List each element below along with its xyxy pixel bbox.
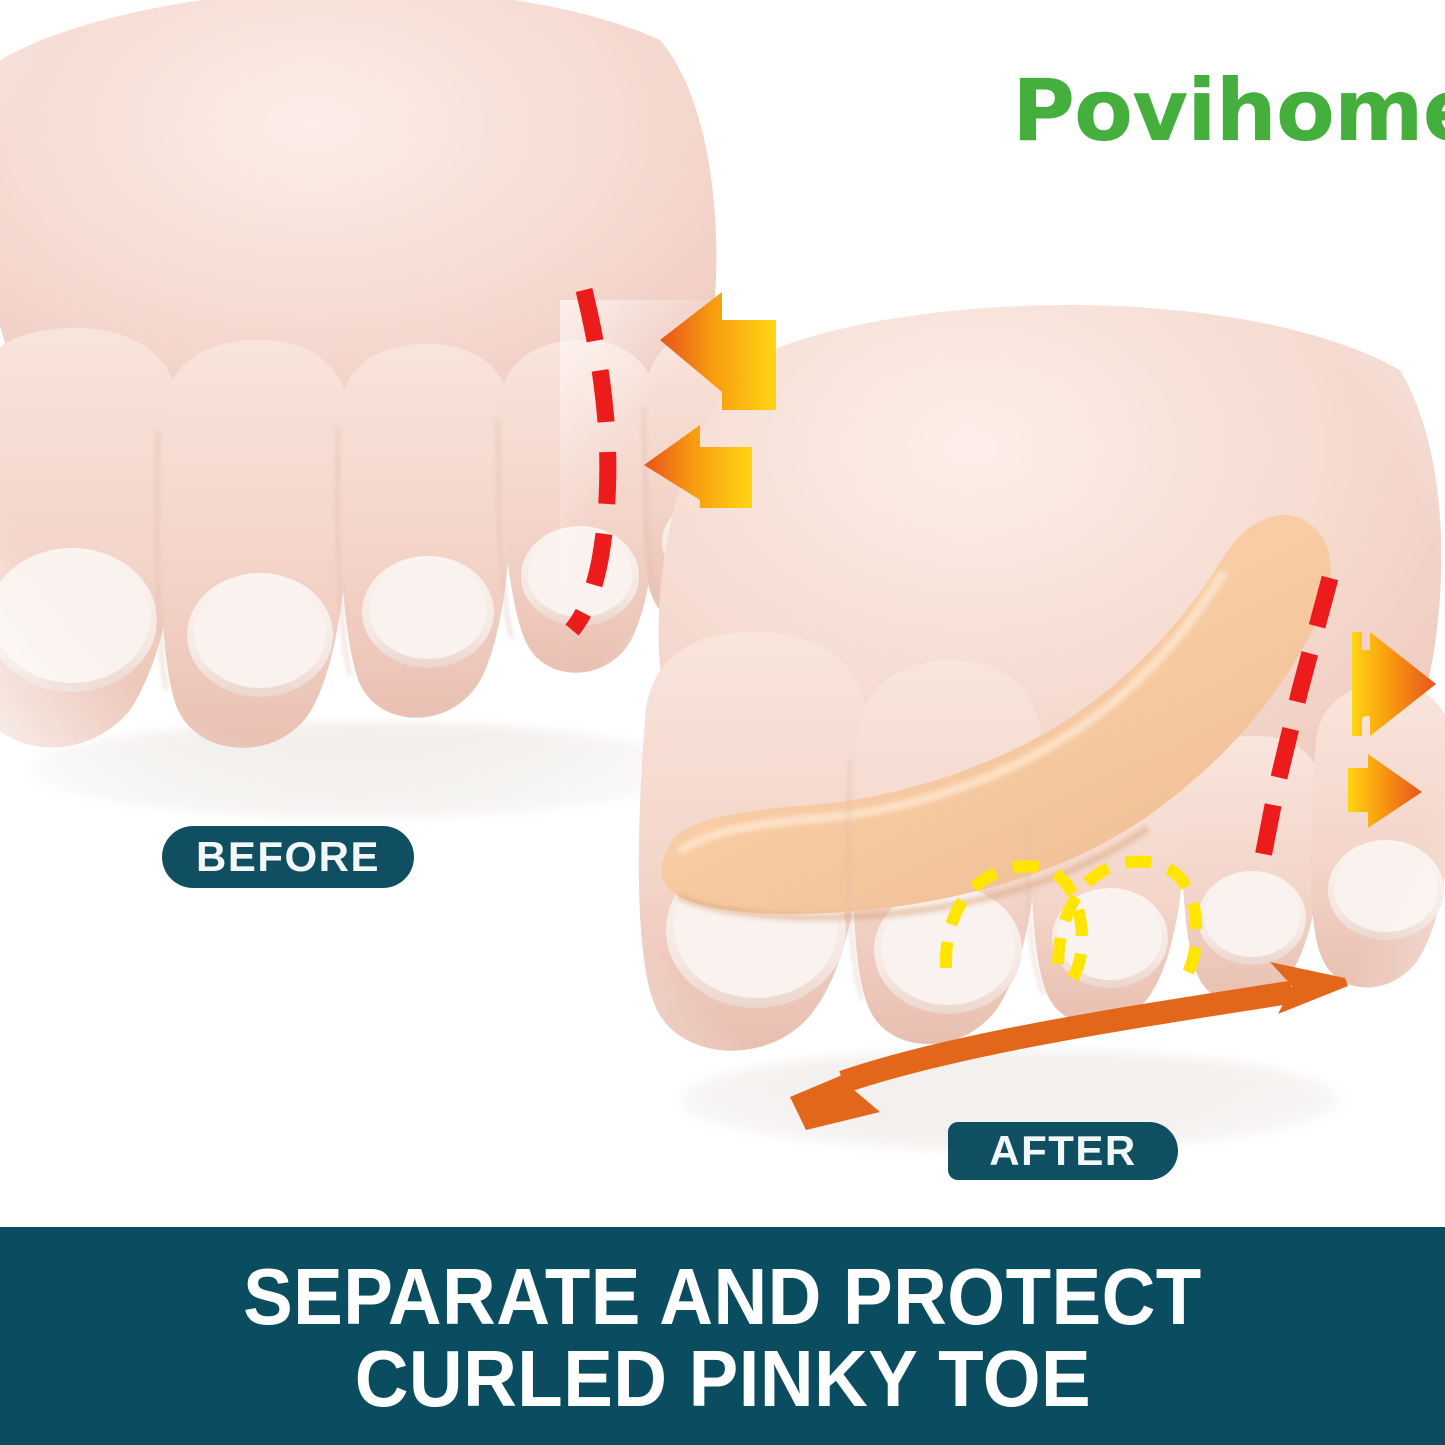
brand-logo: Povihome [1012, 68, 1445, 154]
badge-before: BEFORE [162, 826, 414, 888]
banner-line-1: SEPARATE AND PROTECT [243, 1256, 1202, 1338]
product-infographic: Povihome BEFORE AFTER SEPARATE AND PROTE… [0, 0, 1445, 1445]
banner-line-2: CURLED PINKY TOE [354, 1338, 1090, 1420]
badge-after: AFTER [948, 1122, 1178, 1180]
bottom-banner: SEPARATE AND PROTECT CURLED PINKY TOE [0, 1227, 1445, 1445]
after-foot-illustration [560, 300, 1445, 1230]
after-photo [560, 300, 1445, 1230]
